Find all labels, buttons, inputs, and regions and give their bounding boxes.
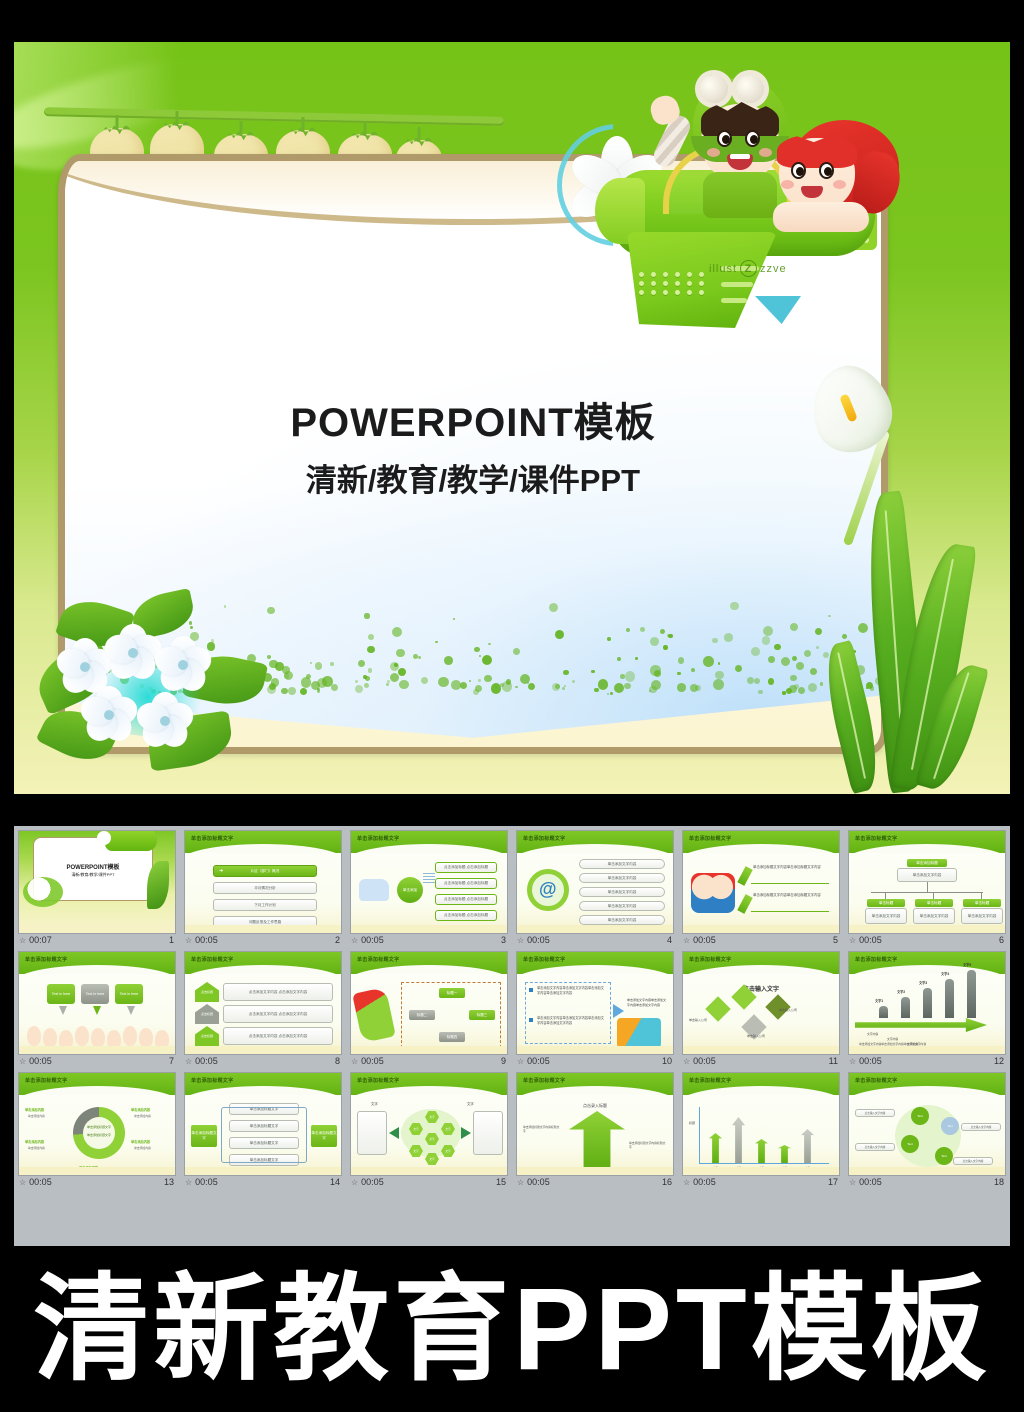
list-item: 单击添加文字内容 [579,887,665,897]
mini-slide-title: 单击添加标题文字 [855,1077,897,1084]
foliage-dot [421,677,429,685]
radial-item: 点击添加标题 点击添加标题 [435,894,497,905]
mini-footer [351,925,507,933]
foliage-dot [703,656,714,667]
pencil-kid-illustration [352,987,396,1043]
foliage-dot [607,693,609,695]
star-icon: ☆ [849,1178,856,1187]
thumbnail-meta: ☆00:0511 [678,1055,844,1068]
quad-body: 单击添加内容 [28,1146,64,1150]
foliage-dot [502,681,513,692]
list-item: 单击添加文字内容 [579,859,665,869]
foliage-dot [663,645,667,649]
mini-body: 单击添加标题文字单击添加标题文字单击添加标题文字单击添加标题文字单击添加标题文字… [185,1095,341,1175]
vine-stem [44,107,504,126]
hub-circle: 单击添加 [397,877,423,903]
rivet [687,290,692,295]
at-icon: @ [539,879,557,900]
rivet [675,272,680,277]
mini-body: 点击标题点击添加文字内容 点击添加文字内容点击标题点击添加文字内容 点击添加文字… [185,974,341,1054]
foliage-dot [478,679,480,681]
org-chip: 单击标题 [963,899,1001,907]
slide-thumbnail[interactable]: 单击添加标题文字单击添加文字内容单击添加文字内容单击添加文字内容单击添加文字内容… [516,951,674,1055]
thumbnail-time-group: ☆00:05 [185,1177,218,1187]
rivet [687,281,692,286]
chart-arrow-bar [755,1139,768,1163]
slide-thumbnail[interactable]: 单击添加标题文字Text in hereText in hereText in … [18,951,176,1055]
star-icon: ☆ [19,1178,26,1187]
mini-footer [185,1167,341,1175]
brand-right: zzve [760,263,787,275]
slide-number: 13 [164,1177,174,1187]
child-figure [43,1028,57,1048]
boy-eye [717,130,732,147]
thumbnail-meta: ☆00:0513 [14,1176,180,1189]
mini-body: TextTextTextText点击输入文字内容点击输入文字内容点击输入文字内容… [849,1095,1005,1175]
mini-slide-title: 单击添加标题文字 [523,1077,565,1084]
slide-number: 14 [330,1177,340,1187]
mini-body: 片区（部门）概况➜半月情况分析下月工作计划问题反馈及工作思路 [185,853,341,933]
house-label: 点击标题 [195,1034,219,1038]
slide-duration: 00:05 [195,1056,218,1066]
thumbnail-cell: 单击添加标题文字单击添加标题单击添加文字内容单击标题单击添加文字内容单击标题单击… [844,826,1010,947]
star-icon: ☆ [185,1178,192,1187]
slide-number: 17 [828,1177,838,1187]
slide-duration: 00:07 [29,935,52,945]
slide-thumbnail[interactable]: 单击添加标题文字单击添加标题单击添加文字内容单击标题单击添加文字内容单击标题单击… [848,830,1006,934]
thumbnail-meta: ☆00:071 [14,934,180,947]
foliage-dot [660,629,666,635]
foliage-dot [474,647,480,653]
big-up-arrow [569,1111,625,1169]
donut-center-text: 单击添加标题文字 [79,1125,119,1129]
slide-number: 2 [335,935,340,945]
slide-number: 11 [829,1056,838,1066]
slide-thumbnail[interactable]: 单击添加标题文字标题一标题二标题三标题四 [350,951,508,1055]
slide-duration: 00:05 [361,1056,384,1066]
thumbnail-meta: ☆00:0518 [844,1176,1010,1189]
quad-heading: 单击添加内容 [131,1139,150,1144]
node-label: 单击输入公司 [779,1008,797,1012]
connector [423,873,435,874]
foliage-dot [363,675,367,679]
down-arrow-icon [59,1006,67,1015]
growth-bar [923,988,932,1018]
foliage-dot [763,626,773,636]
child-figure [123,1026,137,1046]
mini-body: 单击添加文字内容单击添加文字内容单击添加文字内容单击添加文字内容单击添加文字内容… [517,974,673,1054]
foliage-dot [515,686,517,688]
mini-slide-title: 单击添加标题文字 [191,956,233,963]
list-item: 单击添加文字内容 [579,873,665,883]
mini-footer [19,925,175,933]
down-arrow-icon [93,1006,101,1015]
mini-footer [517,1167,673,1175]
slide-thumbnail[interactable]: 单击添加标题文字文字1文字内容文字2文字内容文字3文字内容文字4文字内容文字5单… [848,951,1006,1055]
mini-footer [19,1167,175,1175]
mini-slide-title: 单击添加标题文字 [523,956,565,963]
loop-path [221,1107,307,1163]
rivet [663,272,668,277]
slide-number: 6 [999,935,1004,945]
network-label: 点击输入文字内容 [855,1143,895,1151]
quad-heading: 单击添加内容 [131,1107,150,1112]
star-icon: ☆ [517,1178,524,1187]
axis-label: 标题 [689,1121,695,1125]
bar-note: 文字内容 [887,1037,898,1041]
rivet [699,290,704,295]
foliage-dot [790,623,798,631]
foliage-dot [418,656,421,659]
foliage-dot [712,638,718,644]
foliage-dot [398,668,406,676]
org-node: 单击添加文字内容 [961,908,1003,924]
girl-eye [819,162,834,179]
mini-footer [683,1167,839,1175]
foliage-dot [390,662,399,671]
mini-body: @单击添加文字内容单击添加文字内容单击添加文字内容单击添加文字内容单击添加文字内… [517,853,673,933]
slide-thumbnail[interactable]: 单击添加标题文字点击输入文字单击输入公司单击输入公司单击输入公司单击输入公司 [682,951,840,1055]
foliage-dot [444,656,453,665]
mini-slide-title: 单击添加标题文字 [523,835,565,842]
child-figure [139,1028,153,1048]
rivet [675,290,680,295]
growth-bar [945,979,954,1018]
mini-slide-title: 单击添加标题文字 [689,835,731,842]
flow-node: 标题四 [439,1032,465,1042]
thumbnail-time-group: ☆00:05 [849,935,882,945]
slide-thumbnail[interactable]: 单击添加标题文字单击添加点击添加标题 点击添加标题点击添加标题 点击添加标题点击… [350,830,508,934]
slide-thumbnail[interactable]: 单击添加标题文字单击添加标题文字内容单击添加标题文字内容单击添加标题文字内容单击… [682,830,840,934]
donut-center-text: 单击添加标题文字 [79,1133,119,1137]
mini-footer [19,1046,175,1054]
foliage-dot [300,688,307,695]
mini-body: 标题一标题二标题三标题四 [351,974,507,1054]
slide-number: 1 [169,935,174,945]
foliage-dot [792,656,798,662]
quad-body: 单击添加内容 [134,1146,170,1150]
network-label: 点击输入文字内容 [961,1123,1001,1131]
girl-cheek [781,180,794,189]
thumbnail-row: 单击添加标题文字单击添加标题文字单击添加标题文字单击添加内容单击添加内容单击添加… [14,1068,1010,1189]
row-box: 点击添加文字内容 点击添加文字内容 [223,1027,333,1045]
menu-item[interactable]: 半月情况分析 [213,882,317,894]
bar-label: 文字3 [919,980,927,985]
foliage-dot [651,680,661,690]
underline [751,911,829,912]
mini-title: POWERPOINT模板 [34,862,152,871]
slide-thumbnail[interactable]: 单击添加标题文字@单击添加文字内容单击添加文字内容单击添加文字内容单击添加文字内… [516,830,674,934]
slide-number: 18 [994,1177,1004,1187]
section-heading: 点击输入文字 [683,984,839,993]
bar-label: 文字2 [897,989,905,994]
thumbnail-row: 单击添加标题文字Text in hereText in hereText in … [14,947,1010,1068]
mini-footer [185,925,341,933]
thumbnail-meta: ☆00:052 [180,934,346,947]
slide-number: 10 [662,1056,672,1066]
foliage-dot [794,684,799,689]
arrow-label: 单击添加标题文字内容标题文字 [523,1125,561,1133]
rivet [639,281,644,286]
foliage-dot [786,688,792,694]
hero-slide-container: POWERPOINT模板 清新/教育/教学/课件PPT [0,0,1024,810]
node-label: 单击输入公司 [689,1018,707,1022]
star-icon: ☆ [683,1178,690,1187]
network-label: 点击输入文字内容 [855,1109,895,1117]
row-box: 点击添加文字内容 点击添加文字内容 [223,1005,333,1023]
thumbnail-cell: POWERPOINT模板清新/教育/教学/课件PPT☆00:071 [14,826,180,947]
org-node: 单击添加文字内容 [913,908,955,924]
foliage-dot [355,680,358,683]
underline [751,883,829,884]
mini-slide-title: 单击添加标题文字 [855,956,897,963]
foliage-dot [572,680,575,683]
star-icon: ☆ [683,936,690,945]
bell-flower-vine [44,104,504,130]
rivet [663,281,668,286]
foliage-dot [479,655,481,657]
arrow-icon: ➜ [219,868,223,874]
foliage-dot [610,692,613,695]
foliage-dot [768,678,775,685]
slide-thumbnail[interactable]: 单击添加标题文字片区（部门）概况➜半月情况分析下月工作计划问题反馈及工作思路 [184,830,342,934]
slide-thumbnail[interactable]: 单击添加标题文字文字文字文字文字文字文字文字文字文字 [350,1072,508,1176]
foliage-dot [735,665,742,672]
foliage-dot [399,680,408,689]
mini-body: 标题内容内容内容内容内容 [683,1095,839,1175]
quad-heading: 单击添加内容 [25,1107,44,1112]
foliage-dot [724,633,733,642]
mini-footer [683,925,839,933]
slide-duration: 00:05 [195,935,218,945]
slide-number: 7 [169,1056,174,1066]
rivet [699,272,704,277]
blue-arrow-icon [613,1004,624,1018]
foliage-dot [754,678,760,684]
foliage-dot [594,688,598,692]
foliage-dot [677,672,680,675]
slide-number: 9 [501,1056,506,1066]
foliage-dot [460,682,467,689]
flower-center [80,662,90,672]
mini-body: POWERPOINT模板清新/教育/教学/课件PPT [19,831,175,933]
foliage-dot [713,679,724,690]
foliage-dot [762,636,771,645]
foliage-dot [718,662,720,664]
foliage-dot [367,646,375,654]
girl-eye [791,162,806,179]
side-card [473,1111,503,1155]
foliage-dot [635,657,638,660]
page-title: POWERPOINT模板 [65,401,881,445]
thumbnail-meta: ☆00:056 [844,934,1010,947]
column-header: 文字 [467,1101,474,1106]
menu-item[interactable]: 片区（部门）概况➜ [213,865,317,877]
list-item: 单击添加文字内容 [579,901,665,911]
car-illustration [359,879,389,901]
slide-thumbnail[interactable]: 单击添加标题文字单击添加标题文字单击添加标题文字单击添加标题文字单击添加标题文字… [184,1072,342,1176]
foliage-dot [482,655,492,665]
mini-footer [185,1046,341,1054]
hydrangea-flower-icon [134,692,196,750]
mini-footer [849,1046,1005,1054]
bar-label: 文字4 [941,971,949,976]
flow-node: 标题三 [469,1010,495,1020]
mini-footer [517,925,673,933]
bullet-text: 单击添加文字内容单击添加文字内容单击添加文字内容单击添加文字内容 [537,986,605,996]
wing-slat [721,282,753,287]
foliage-dot [396,649,405,658]
slide-thumbnail[interactable]: 单击添加标题文字TextTextTextText点击输入文字内容点击输入文字内容… [848,1072,1006,1176]
foliage-dot [330,662,334,666]
loop-side: 单击添加标题文字 [311,1125,337,1147]
thumbnail-time-group: ☆00:05 [849,1177,882,1187]
foliage-dot [520,674,530,684]
foliage-dot [355,685,363,693]
star-icon: ☆ [849,1057,856,1066]
mini-body: 单击添加点击添加标题 点击添加标题点击添加标题 点击添加标题点击添加标题 点击添… [351,853,507,933]
rivet [687,272,692,277]
star-icon: ☆ [19,1057,26,1066]
radial-item: 点击添加标题 点击添加标题 [435,878,497,889]
menu-item[interactable]: 下月工作计划 [213,899,317,911]
rivet [651,272,656,277]
foliage-dot [549,603,558,612]
girl-character [759,118,899,238]
list-item: 单击添加文字内容 [579,915,665,925]
flower-center [104,710,114,720]
mini-body: 点击录入标题单击添加标题文字内容标题文字单击添加标题文字内容标题文字 [517,1095,673,1175]
foliage-dot [528,683,535,690]
foliage-dot [695,685,701,691]
mini-footer [517,1046,673,1054]
thumbnail-meta: ☆00:0512 [844,1055,1010,1068]
thumbnail-meta: ☆00:055 [678,934,844,947]
thumbnail-cell: 单击添加标题文字标题一标题二标题三标题四☆00:059 [346,947,512,1068]
slide-duration: 00:05 [693,1056,716,1066]
foliage-dot [730,602,739,611]
foliage-dot [598,679,608,689]
slide-thumbnail[interactable]: 单击添加标题文字标题内容内容内容内容内容 [682,1072,840,1176]
down-arrow-icon [127,1006,135,1015]
foliage-dot [591,670,595,674]
mini-slide-title: 单击添加标题文字 [689,956,731,963]
foliage-dot [368,668,372,672]
star-icon: ☆ [185,1057,192,1066]
mini-body: 文字1文字内容文字2文字内容文字3文字内容文字4文字内容文字5单击添加文字内容单… [849,974,1005,1054]
house-label: 点击标题 [195,1012,219,1016]
foliage-dot [677,683,686,692]
foliage-dot [758,690,763,695]
slide-thumbnail[interactable]: 单击添加标题文字点击录入标题单击添加标题文字内容标题文字单击添加标题文字内容标题… [516,1072,674,1176]
hero-title-block: POWERPOINT模板 清新/教育/教学/课件PPT [65,401,881,500]
foliage-dot [614,683,624,693]
org-chip: 单击标题 [915,899,953,907]
slide-duration: 00:05 [527,935,550,945]
slide-number: 8 [335,1056,340,1066]
foliage-dot [751,647,760,656]
wing-slat [721,298,747,303]
thumbnail-meta: ☆00:058 [180,1055,346,1068]
slide-duration: 00:05 [195,1177,218,1187]
thumbnail-cell: 单击添加标题文字单击添加文字内容单击添加文字内容单击添加文字内容单击添加文字内容… [512,947,678,1068]
top-chip: Text in here [47,984,75,1004]
slide-number: 12 [994,1056,1004,1066]
foliage-dot [650,637,659,646]
top-chip: Text in here [115,984,143,1004]
flower-center [178,660,188,670]
star-icon: ☆ [185,936,192,945]
thumbnail-cell: 单击添加标题文字文字1文字内容文字2文字内容文字3文字内容文字4文字内容文字5单… [844,947,1010,1068]
foliage-dot [691,668,695,672]
thumbnail-time-group: ☆00:05 [683,1177,716,1187]
foliage-dot [488,643,491,646]
calla-lily-group [804,332,984,792]
thumbnail-cell: 单击添加标题文字Text in hereText in hereText in … [14,947,180,1068]
x-axis [699,1163,829,1164]
flower-center [160,716,170,726]
quad-body: 单击添加内容 [28,1114,64,1118]
loop-side: 单击添加标题文字 [191,1125,217,1147]
thumbnail-cell: 单击添加标题文字文字文字文字文字文字文字文字文字文字☆00:0515 [346,1068,512,1189]
mini-leaves [147,861,169,909]
star-icon: ☆ [19,936,26,945]
growth-bar [901,997,910,1018]
foliage-dot [484,675,492,683]
thumbnail-cell: 单击添加标题文字片区（部门）概况➜半月情况分析下月工作计划问题反馈及工作思路☆0… [180,826,346,947]
brand-left: illust [709,263,737,275]
slide-thumbnail[interactable]: 单击添加标题文字点击标题点击添加文字内容 点击添加文字内容点击标题点击添加文字内… [184,951,342,1055]
thumbnail-cell: 单击添加标题文字点击标题点击添加文字内容 点击添加文字内容点击标题点击添加文字内… [180,947,346,1068]
foliage-dot [358,660,365,667]
content-text: 单击添加标题文字内容单击添加标题文字内容 [753,893,829,898]
bullet-text: 单击添加文字内容单击添加文字内容单击添加文字内容单击添加文字内容 [537,1016,605,1026]
slide-thumbnail[interactable]: POWERPOINT模板清新/教育/教学/课件PPT [18,830,176,934]
org-trunk [927,882,928,892]
thumbnail-meta: ☆00:0517 [678,1176,844,1189]
foliage-dot [626,628,630,632]
foliage-dot [473,689,479,695]
foliage-dot [562,687,565,690]
hydrangea-group [36,594,286,774]
rivet [675,281,680,286]
bottom-banner-title: 清新教育PPT模板 [0,1246,1024,1412]
slide-thumbnail[interactable]: 单击添加标题文字单击添加标题文字单击添加标题文字单击添加内容单击添加内容单击添加… [18,1072,176,1176]
rivet [663,290,668,295]
mini-slide-title: 单击添加标题文字 [357,956,399,963]
mini-slide-title: 单击添加标题文字 [25,1077,67,1084]
org-drop [933,892,934,899]
slide-duration: 00:05 [859,1177,882,1187]
foliage-dot [625,671,635,681]
foliage-dot [796,662,804,670]
thumbnail-meta: ☆00:054 [512,934,678,947]
star-icon: ☆ [849,936,856,945]
thumbnail-time-group: ☆00:05 [185,935,218,945]
hero-slide: POWERPOINT模板 清新/教育/教学/课件PPT [14,42,1010,794]
page-subtitle: 清新/教育/教学/课件PPT [65,455,881,500]
foliage-dot [453,618,455,620]
chart-arrow-bar [732,1117,745,1163]
thumbnail-cell: 单击添加标题文字标题内容内容内容内容内容☆00:0517 [678,1068,844,1189]
org-top-chip: 单击添加标题 [907,859,947,867]
foliage-dot [747,677,754,684]
slide-duration: 00:05 [361,935,384,945]
right-arrow-icon [461,1127,471,1139]
star-icon: ☆ [351,1057,358,1066]
bar-label: 文字5 [963,962,971,967]
slide-duration: 00:05 [29,1177,52,1187]
